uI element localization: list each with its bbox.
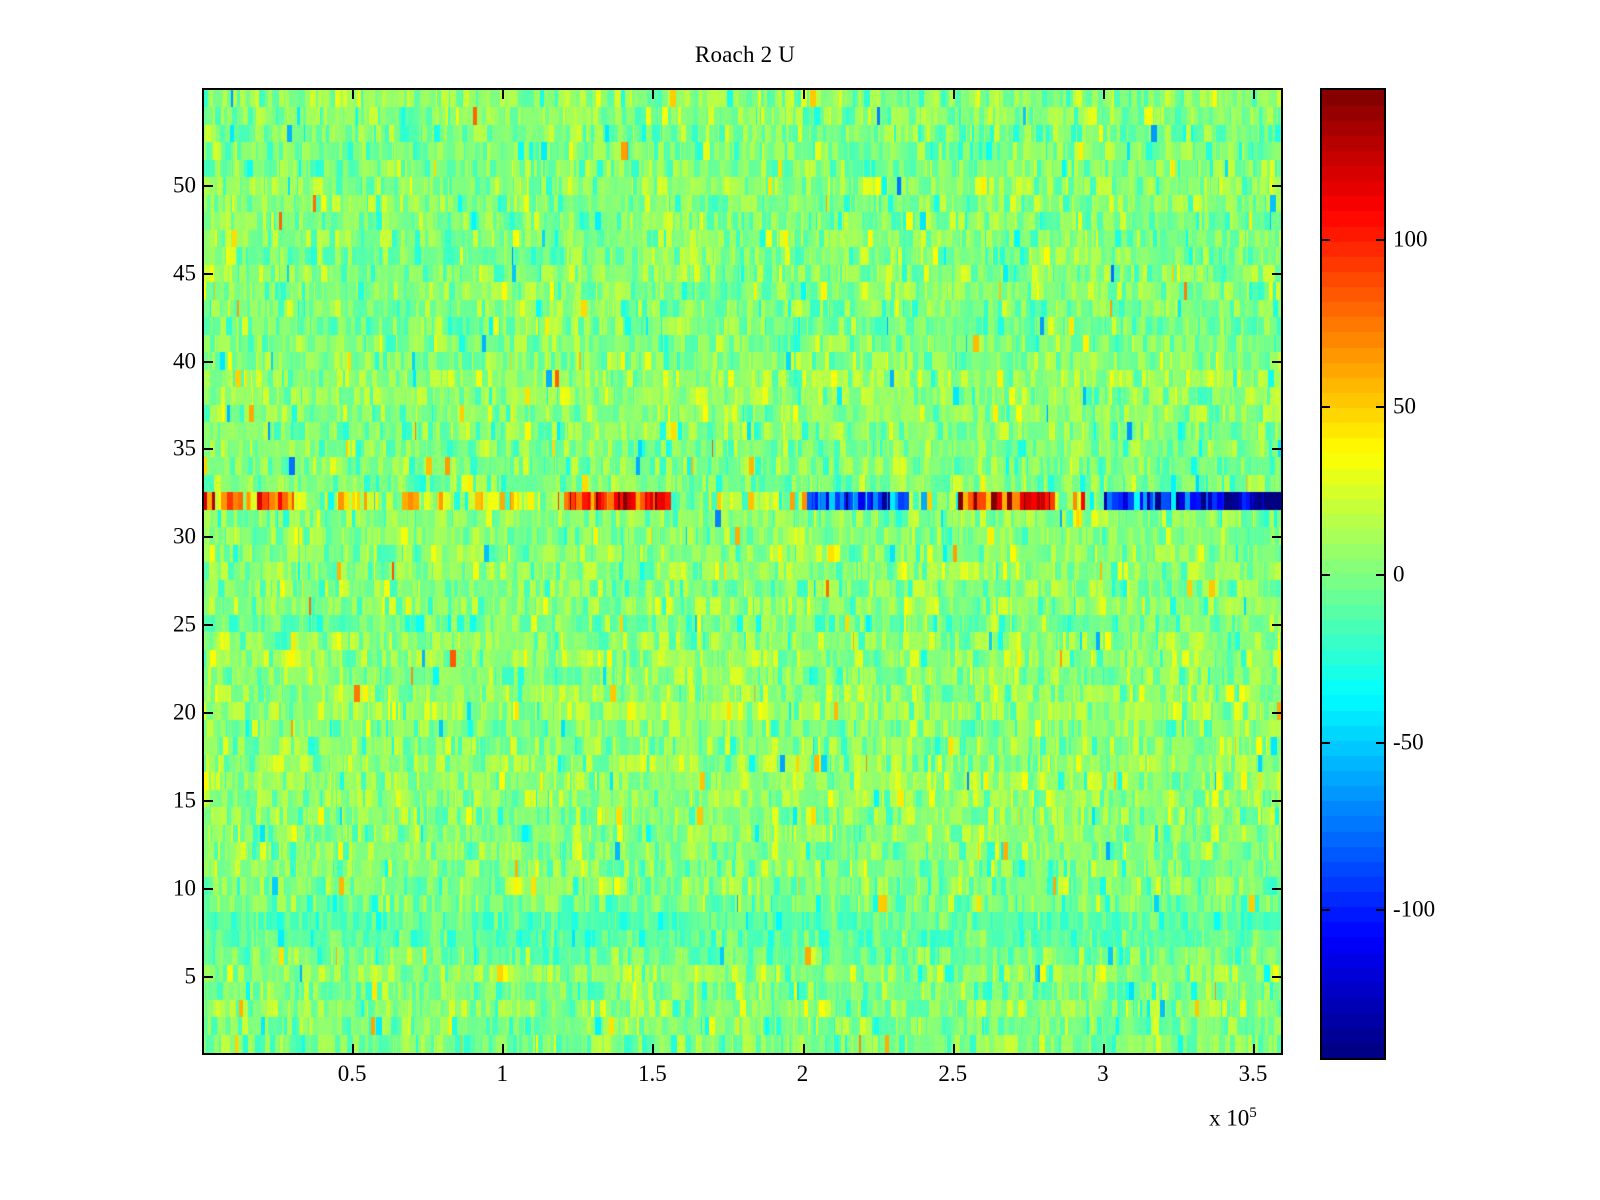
- colorbar-tick: [1320, 909, 1330, 911]
- x-axis-tick: [502, 1044, 504, 1055]
- y-axis-tick: [1272, 536, 1283, 538]
- x-axis-tick-label: 2: [797, 1062, 809, 1085]
- x-axis-exponent-base: x 10: [1209, 1106, 1249, 1131]
- y-axis-tick: [1272, 185, 1283, 187]
- colorbar-gradient: [1322, 90, 1384, 1058]
- x-axis-tick-label: 3: [1097, 1062, 1109, 1085]
- colorbar-tick: [1376, 406, 1386, 408]
- x-axis-tick: [803, 1044, 805, 1055]
- x-axis-tick: [652, 1044, 654, 1055]
- y-axis-tick: [1272, 448, 1283, 450]
- y-axis-tick: [1272, 976, 1283, 978]
- x-axis-tick-label: 3.5: [1239, 1062, 1268, 1085]
- y-axis-tick-label: 25: [173, 613, 196, 636]
- y-axis-tick: [202, 712, 213, 714]
- x-axis-tick: [953, 88, 955, 99]
- y-axis-tick: [202, 273, 213, 275]
- colorbar-tick-label: 100: [1393, 227, 1428, 250]
- y-axis-tick: [1272, 361, 1283, 363]
- y-axis-tick: [202, 976, 213, 978]
- y-axis-tick: [202, 361, 213, 363]
- colorbar-tick-label: -100: [1393, 898, 1435, 921]
- x-axis-tick: [652, 88, 654, 99]
- y-axis-tick: [202, 800, 213, 802]
- y-axis-tick: [1272, 624, 1283, 626]
- colorbar-tick: [1320, 239, 1330, 241]
- y-axis-tick-label: 15: [173, 789, 196, 812]
- x-axis-tick-label: 0.5: [338, 1062, 367, 1085]
- y-axis-tick-label: 30: [173, 525, 196, 548]
- y-axis-tick: [202, 624, 213, 626]
- colorbar-tick: [1376, 742, 1386, 744]
- x-axis-tick: [352, 1044, 354, 1055]
- colorbar-tick: [1376, 239, 1386, 241]
- y-axis-tick-label: 20: [173, 701, 196, 724]
- y-axis-tick-label: 10: [173, 876, 196, 899]
- colorbar-tick: [1320, 406, 1330, 408]
- y-axis-tick: [202, 448, 213, 450]
- y-axis-tick: [1272, 800, 1283, 802]
- y-axis-tick: [1272, 712, 1283, 714]
- x-axis-tick-label: 1: [497, 1062, 509, 1085]
- colorbar-tick-label: 50: [1393, 395, 1416, 418]
- y-axis-tick: [1272, 888, 1283, 890]
- page-title: Roach 2 U: [0, 42, 1490, 68]
- y-axis-tick-label: 50: [173, 173, 196, 196]
- heatmap-axes[interactable]: [202, 88, 1283, 1055]
- y-axis-tick-label: 40: [173, 349, 196, 372]
- x-axis-exponent-power: 5: [1249, 1105, 1257, 1121]
- x-axis-tick: [1103, 1044, 1105, 1055]
- y-axis-tick-label: 5: [185, 964, 197, 987]
- colorbar-tick: [1320, 574, 1330, 576]
- colorbar-tick: [1320, 742, 1330, 744]
- x-axis-tick: [352, 88, 354, 99]
- colorbar-tick-label: -50: [1393, 730, 1424, 753]
- x-axis-tick: [803, 88, 805, 99]
- heatmap-canvas[interactable]: [204, 90, 1281, 1053]
- x-axis-tick: [1103, 88, 1105, 99]
- x-axis-tick: [1253, 1044, 1255, 1055]
- y-axis-tick: [202, 536, 213, 538]
- colorbar-tick: [1376, 909, 1386, 911]
- x-axis-tick-label: 1.5: [638, 1062, 667, 1085]
- x-axis-exponent-label: x 105: [1209, 1105, 1257, 1132]
- figure-root: Roach 2 U x 105 51015202530354045500.511…: [0, 0, 1600, 1200]
- y-axis-tick: [202, 888, 213, 890]
- x-axis-tick: [953, 1044, 955, 1055]
- x-axis-tick: [1253, 88, 1255, 99]
- y-axis-tick-label: 45: [173, 261, 196, 284]
- colorbar-tick: [1376, 574, 1386, 576]
- x-axis-tick: [502, 88, 504, 99]
- y-axis-tick: [1272, 273, 1283, 275]
- y-axis-tick: [202, 185, 213, 187]
- colorbar-tick-label: 0: [1393, 563, 1405, 586]
- x-axis-tick-label: 2.5: [938, 1062, 967, 1085]
- y-axis-tick-label: 35: [173, 437, 196, 460]
